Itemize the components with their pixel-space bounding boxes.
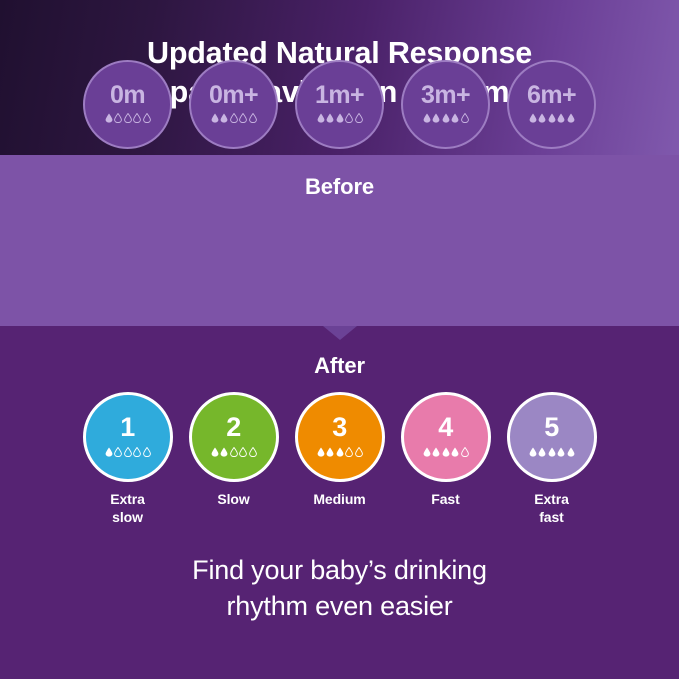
before-age-label: 6m+	[527, 83, 576, 108]
droplet-filled-icon	[442, 113, 450, 123]
droplet-filled-icon	[529, 113, 537, 123]
droplet-filled-icon	[220, 447, 228, 457]
droplet-empty-icon	[461, 113, 469, 123]
after-pace-circle: 5	[507, 392, 597, 482]
droplet-filled-icon	[548, 447, 556, 457]
droplet-empty-icon	[461, 447, 469, 457]
after-flow-droplets	[105, 447, 151, 457]
after-flow-droplets	[423, 447, 469, 457]
droplet-filled-icon	[211, 113, 219, 123]
droplet-filled-icon	[442, 447, 450, 457]
after-pace-label: Medium	[313, 490, 365, 508]
droplet-filled-icon	[557, 447, 565, 457]
after-pace-label: Extra fast	[534, 490, 569, 526]
droplet-filled-icon	[432, 447, 440, 457]
droplet-filled-icon	[557, 113, 565, 123]
droplet-filled-icon	[538, 113, 546, 123]
infographic-poster: Updated Natural Response pace navigation…	[0, 0, 679, 679]
before-flow-droplets	[317, 113, 363, 123]
after-pace-label: Extra slow	[110, 490, 145, 526]
droplet-filled-icon	[423, 447, 431, 457]
before-age-label: 1m+	[315, 83, 364, 108]
droplet-empty-icon	[143, 447, 151, 457]
droplet-filled-icon	[105, 113, 113, 123]
after-pace-item: 2Slow	[189, 392, 279, 508]
droplet-filled-icon	[451, 447, 459, 457]
after-heading: After	[0, 353, 679, 379]
before-flow-droplets	[529, 113, 575, 123]
after-pace-label: Slow	[217, 490, 249, 508]
before-pace-item: 0m	[83, 60, 173, 149]
droplet-filled-icon	[326, 447, 334, 457]
droplet-filled-icon	[317, 113, 325, 123]
before-pace-circle: 3m+	[401, 60, 490, 149]
droplet-empty-icon	[133, 113, 141, 123]
droplet-empty-icon	[230, 447, 238, 457]
droplet-empty-icon	[249, 447, 257, 457]
droplet-filled-icon	[567, 447, 575, 457]
after-flow-droplets	[317, 447, 363, 457]
droplet-filled-icon	[567, 113, 575, 123]
droplet-filled-icon	[529, 447, 537, 457]
droplet-empty-icon	[143, 113, 151, 123]
droplet-filled-icon	[105, 447, 113, 457]
before-heading: Before	[0, 174, 679, 200]
after-circle-row: 1Extra slow2Slow3Medium4Fast5Extra fast	[0, 392, 679, 526]
after-flow-droplets	[211, 447, 257, 457]
droplet-filled-icon	[211, 447, 219, 457]
droplet-empty-icon	[249, 113, 257, 123]
droplet-filled-icon	[432, 113, 440, 123]
droplet-empty-icon	[124, 447, 132, 457]
droplet-filled-icon	[326, 113, 334, 123]
droplet-empty-icon	[239, 447, 247, 457]
droplet-empty-icon	[114, 113, 122, 123]
after-pace-circle: 4	[401, 392, 491, 482]
droplet-empty-icon	[345, 447, 353, 457]
before-section: Before	[0, 155, 679, 326]
after-pace-number: 1	[120, 414, 135, 441]
after-pace-number: 4	[438, 414, 453, 441]
after-pace-number: 5	[544, 414, 559, 441]
before-pace-circle: 0m	[83, 60, 172, 149]
droplet-filled-icon	[451, 113, 459, 123]
after-pace-item: 5Extra fast	[507, 392, 597, 526]
droplet-filled-icon	[220, 113, 228, 123]
before-age-label: 0m	[110, 83, 145, 108]
droplet-empty-icon	[345, 113, 353, 123]
down-triangle-arrow-icon	[323, 326, 357, 340]
droplet-empty-icon	[114, 447, 122, 457]
before-pace-item: 0m+	[189, 60, 279, 149]
droplet-filled-icon	[336, 447, 344, 457]
after-pace-circle: 3	[295, 392, 385, 482]
droplet-empty-icon	[230, 113, 238, 123]
after-pace-label: Fast	[431, 490, 459, 508]
before-pace-item: 3m+	[401, 60, 491, 149]
droplet-filled-icon	[317, 447, 325, 457]
droplet-filled-icon	[423, 113, 431, 123]
before-age-label: 0m+	[209, 83, 258, 108]
after-pace-item: 4Fast	[401, 392, 491, 508]
footer-tagline: Find your baby’s drinking rhythm even ea…	[0, 552, 679, 624]
before-pace-circle: 1m+	[295, 60, 384, 149]
before-age-label: 3m+	[421, 83, 470, 108]
droplet-filled-icon	[548, 113, 556, 123]
before-pace-circle: 0m+	[189, 60, 278, 149]
before-pace-circle: 6m+	[507, 60, 596, 149]
droplet-empty-icon	[133, 447, 141, 457]
droplet-filled-icon	[538, 447, 546, 457]
before-pace-item: 1m+	[295, 60, 385, 149]
after-pace-number: 2	[226, 414, 241, 441]
before-circle-row: 0m0m+1m+3m+6m+	[0, 60, 679, 149]
after-pace-item: 1Extra slow	[83, 392, 173, 526]
before-flow-droplets	[105, 113, 151, 123]
after-pace-item: 3Medium	[295, 392, 385, 508]
droplet-empty-icon	[355, 113, 363, 123]
before-flow-droplets	[211, 113, 257, 123]
before-flow-droplets	[423, 113, 469, 123]
before-pace-item: 6m+	[507, 60, 597, 149]
droplet-empty-icon	[239, 113, 247, 123]
droplet-empty-icon	[124, 113, 132, 123]
after-pace-circle: 1	[83, 392, 173, 482]
after-flow-droplets	[529, 447, 575, 457]
after-pace-number: 3	[332, 414, 347, 441]
droplet-empty-icon	[355, 447, 363, 457]
after-pace-circle: 2	[189, 392, 279, 482]
droplet-filled-icon	[336, 113, 344, 123]
